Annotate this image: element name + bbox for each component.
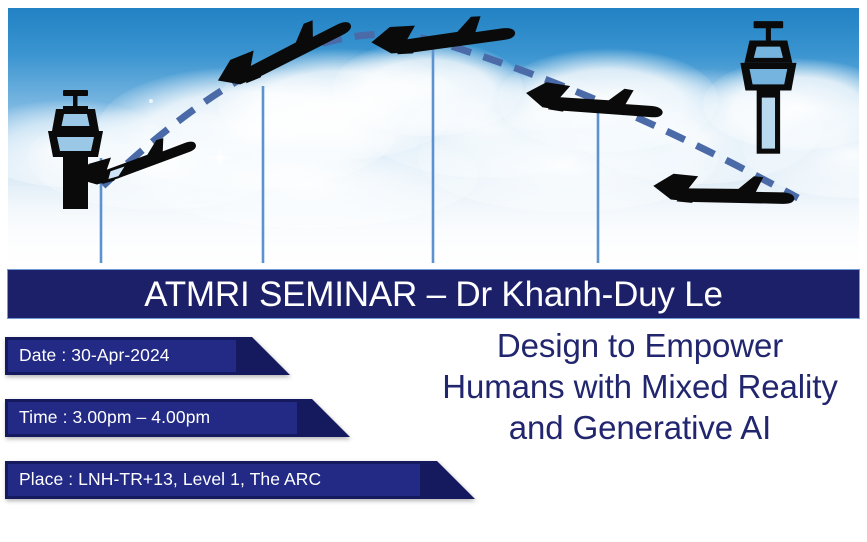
detail-banner-place: Place : LNH-TR+13, Level 1, The ARC <box>5 461 475 499</box>
talk-title: Design to Empower Humans with Mixed Real… <box>420 326 860 449</box>
hero-illustration <box>8 8 859 263</box>
seminar-poster: ATMRI SEMINAR – Dr Khanh-Duy Le Design t… <box>0 0 867 542</box>
talk-title-line-1: Design to Empower <box>420 326 860 367</box>
date-banner-text: Date : 30-Apr-2024 <box>5 347 170 365</box>
place-banner-text: Place : LNH-TR+13, Level 1, The ARC <box>5 471 321 489</box>
detail-banner-date: Date : 30-Apr-2024 <box>5 337 290 375</box>
talk-title-line-3: and Generative AI <box>420 408 860 449</box>
seminar-title-text: ATMRI SEMINAR – Dr Khanh-Duy Le <box>144 277 723 312</box>
talk-title-line-2: Humans with Mixed Reality <box>420 367 860 408</box>
hero-sky-image <box>8 8 859 263</box>
detail-banner-time: Time : 3.00pm – 4.00pm <box>5 399 350 437</box>
time-banner-text: Time : 3.00pm – 4.00pm <box>5 409 210 427</box>
seminar-title-bar: ATMRI SEMINAR – Dr Khanh-Duy Le <box>7 269 860 319</box>
